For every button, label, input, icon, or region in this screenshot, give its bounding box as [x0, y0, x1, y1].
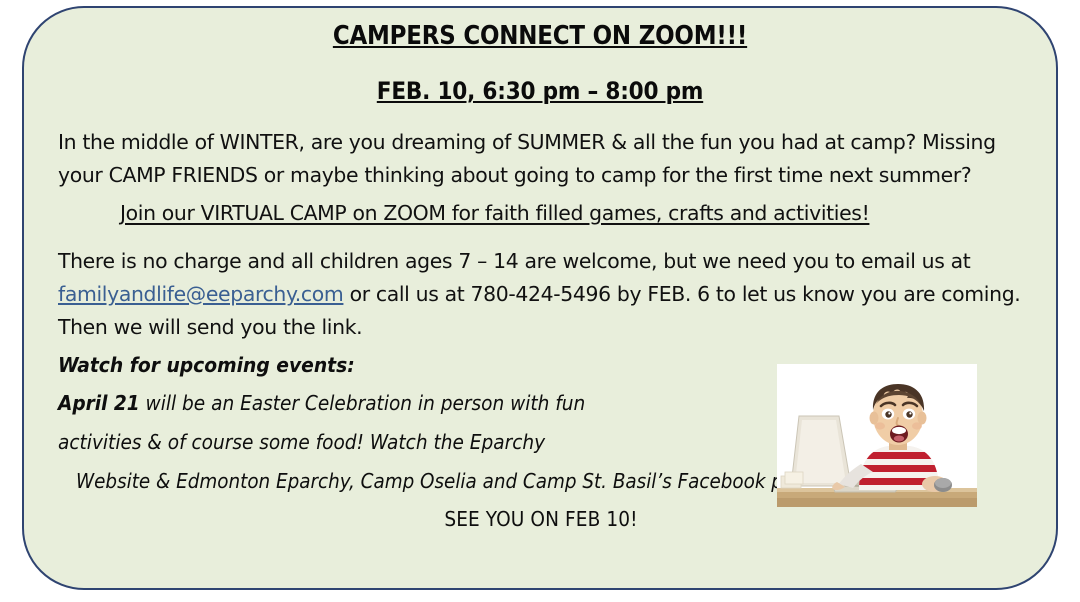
event-description-april-21: will be an Easter Celebration in person … — [140, 391, 586, 415]
email-link[interactable]: familyandlife@eeparchy.com — [58, 282, 343, 306]
virtual-camp-invite-text: Join our VIRTUAL CAMP on ZOOM for faith … — [120, 201, 869, 225]
virtual-camp-invite-line: Join our VIRTUAL CAMP on ZOOM for faith … — [58, 197, 1024, 230]
event-date-april-21: April 21 — [58, 391, 140, 415]
registration-text-before-email: There is no charge and all children ages… — [58, 249, 970, 273]
photo-boy-at-laptop-graphic — [777, 364, 977, 507]
page-title: CAMPERS CONNECT ON ZOOM!!! — [24, 22, 1056, 50]
event-datetime-heading: FEB. 10, 6:30 pm – 8:00 pm — [24, 78, 1056, 104]
intro-paragraph: In the middle of WINTER, are you dreamin… — [58, 126, 1024, 192]
flyer-panel: CAMPERS CONNECT ON ZOOM!!! FEB. 10, 6:30… — [22, 6, 1058, 590]
photo-boy-at-laptop — [777, 364, 977, 507]
page-title-text: CAMPERS CONNECT ON ZOOM!!! — [333, 21, 747, 51]
registration-paragraph: There is no charge and all children ages… — [58, 245, 1024, 344]
closing-line: SEE YOU ON FEB 10! — [58, 507, 1024, 531]
event-datetime-text: FEB. 10, 6:30 pm – 8:00 pm — [377, 77, 703, 105]
